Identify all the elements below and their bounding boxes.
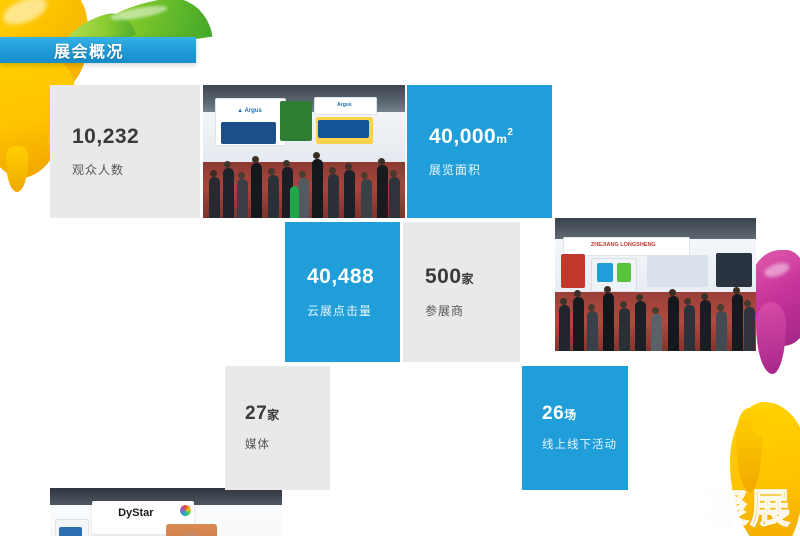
page-title: 展会概况	[54, 38, 124, 62]
stat-label-media: 媒体	[245, 436, 330, 452]
stat-unit-media: 家	[267, 408, 280, 422]
stat-card-cloud-clicks: 40,488 云展点击量	[285, 222, 400, 362]
booth-sign-argus: ▲ Argus	[219, 102, 280, 119]
stat-label-exhibition-area: 展览面积	[429, 161, 552, 178]
stat-card-exhibitors: 500家 参展商	[403, 222, 520, 362]
stat-unit-events: 场	[564, 408, 577, 422]
stat-value-exhibitors: 500	[425, 265, 462, 288]
stat-value-visitors: 10,232	[72, 125, 200, 148]
stat-value-media: 27	[245, 403, 267, 424]
booth-sign-zhejiang: ZHEJIANG LONGSHENG	[567, 239, 680, 251]
stat-label-visitors: 观众人数	[72, 161, 200, 178]
stat-card-events: 26场 线上线下活动	[522, 366, 628, 490]
stat-label-exhibitors: 参展商	[425, 302, 520, 319]
booth-sign-dystar: DyStar	[96, 505, 175, 522]
photo-dystar-booth: DyStar DyStar	[50, 488, 282, 536]
stat-superscript-exhibition-area: 2	[507, 127, 513, 138]
crowd-figures	[203, 149, 405, 218]
stat-unit-exhibitors: 家	[462, 272, 475, 286]
section-banner: 展会概况	[0, 37, 196, 63]
photo-argus-booth: ▲ Argus Argus	[203, 85, 405, 218]
stat-card-media: 27家 媒体	[225, 366, 330, 490]
dystar-logo-icon	[180, 505, 191, 516]
stat-value-events: 26	[542, 403, 564, 424]
overview-grid: 10,232 观众人数 ▲ Argus Argus	[50, 85, 756, 490]
watermark-logo: 聚展	[676, 486, 792, 534]
photo-zhejiang-booth: ZHEJIANG LONGSHENG	[555, 218, 756, 351]
slide-canvas: 展会概况 10,232 观众人数 ▲ Argus Argus	[0, 0, 800, 536]
stat-card-visitors: 10,232 观众人数	[50, 85, 200, 218]
stat-card-exhibition-area: 40,000m2 展览面积	[407, 85, 552, 218]
stat-label-events: 线上线下活动	[542, 436, 628, 452]
stat-value-cloud-clicks: 40,488	[307, 265, 400, 288]
stat-unit-exhibition-area: m	[496, 132, 507, 146]
stat-label-cloud-clicks: 云展点击量	[307, 302, 400, 319]
stat-value-exhibition-area: 40,000	[429, 125, 496, 148]
